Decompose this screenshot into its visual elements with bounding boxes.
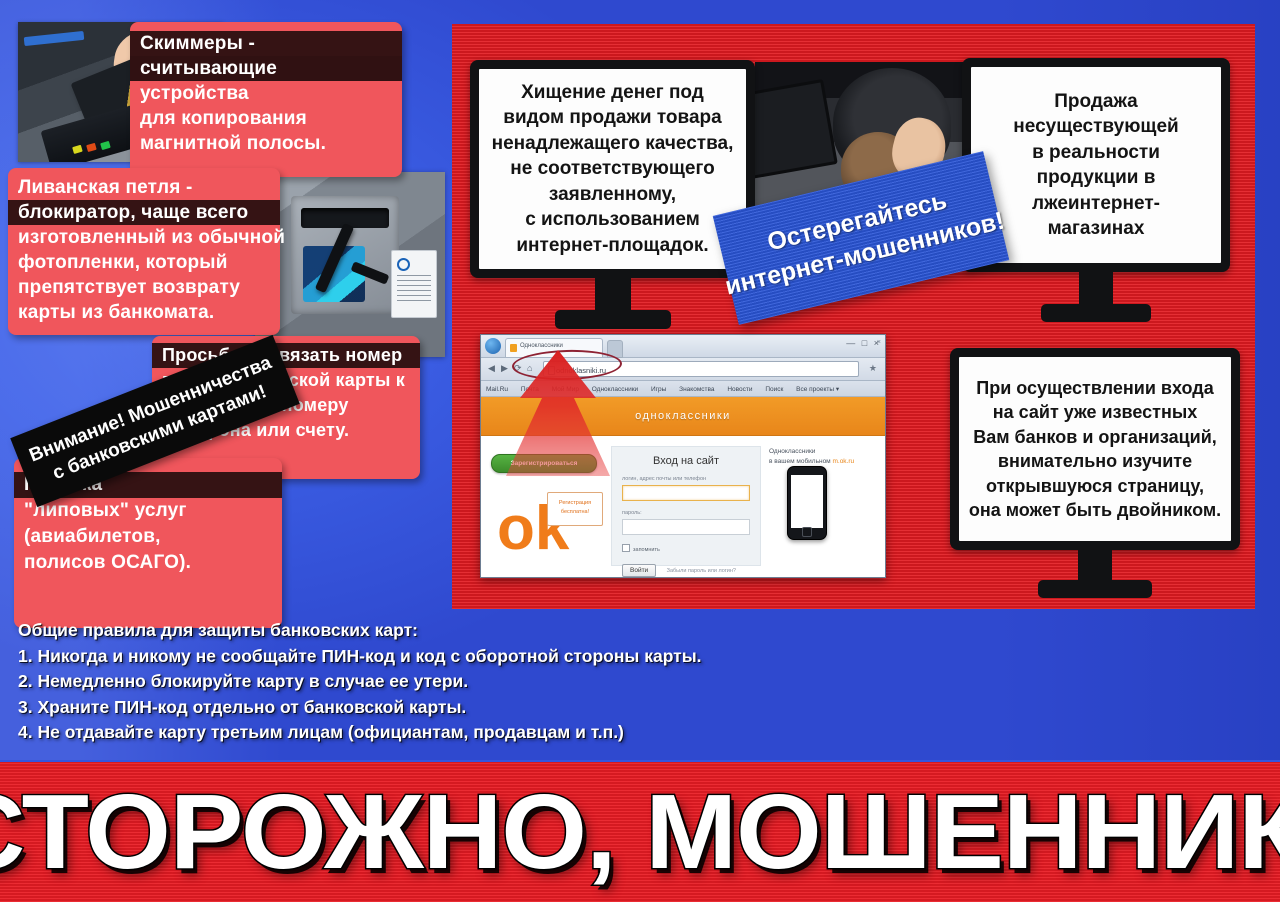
poster-canvas: Скиммеры - считывающие устройства для ко… — [0, 0, 1280, 902]
rules-title: Общие правила для защиты банковских карт… — [18, 618, 738, 644]
card-line: Скиммеры - — [130, 31, 402, 56]
monitor-line: внимательно изучите — [969, 449, 1221, 474]
bookmark-item[interactable]: Одноклассники — [592, 386, 638, 393]
card-line: карты из банкомата. — [8, 300, 280, 325]
register-button[interactable]: Зарегистрироваться — [491, 454, 597, 473]
bookmark-star-icon[interactable]: ★ — [869, 363, 877, 374]
forward-icon[interactable]: ▶ — [501, 363, 508, 374]
card-line: считывающие — [130, 56, 402, 81]
password-field-label: пароль: — [622, 510, 750, 516]
site-header: одноклассники — [481, 397, 885, 436]
site-body: Зарегистрироваться ok Регистрация беспла… — [481, 436, 885, 578]
monitor-line: Хищение денег под — [492, 80, 734, 106]
monitor-base — [1041, 304, 1151, 322]
monitor-line: заявленному, — [492, 182, 734, 208]
monitor-base — [1038, 580, 1152, 598]
monitor-base — [555, 310, 671, 329]
bookmark-item[interactable]: Игры — [651, 386, 666, 393]
card-line: (авиабилетов, — [14, 524, 282, 550]
monitor-line: видом продажи товара — [492, 105, 734, 131]
mobile-promo-line1: Одноклассники — [769, 448, 879, 455]
atm-card-slot-photo — [255, 172, 445, 357]
monitor-screen: Хищение денег под видом продажи товара н… — [479, 69, 746, 269]
mobile-promo-line2: в вашем мобильном — [769, 458, 832, 465]
login-submit-button[interactable]: Войти — [622, 564, 656, 577]
card-line: фотопленки, который — [8, 250, 280, 275]
bookmark-item[interactable]: Мой Мир — [552, 386, 579, 393]
bookmark-item[interactable]: Mail.Ru — [486, 386, 508, 393]
forgot-password-link[interactable]: Забыли пароль или логин? — [667, 568, 736, 574]
monitor-line: продукции в — [1013, 165, 1178, 191]
info-card-skimmers: Скиммеры - считывающие устройства для ко… — [130, 22, 402, 177]
monitor-neck — [1078, 550, 1112, 580]
monitor-line: не соответствующего — [492, 156, 734, 182]
monitor-line: она может быть двойником. — [969, 498, 1221, 523]
bookmark-item[interactable]: Все проекты ▾ — [796, 386, 839, 393]
free-registration-badge: Регистрация бесплатна! — [547, 492, 603, 526]
card-line: "липовых" услуг — [14, 498, 282, 524]
info-card-lebanese-loop: Ливанская петля - блокиратор, чаще всего… — [8, 168, 280, 335]
phone-mockup-icon — [787, 466, 827, 540]
browser-logo-icon — [485, 338, 501, 354]
monitor-frame: Хищение денег под видом продажи товара н… — [470, 60, 755, 278]
site-logo-text: одноклассники — [635, 410, 731, 422]
window-controls[interactable]: — □ × — [846, 338, 881, 348]
card-line: Ливанская петля - — [8, 175, 280, 200]
login-field-label: логин, адрес почты или телефон — [622, 476, 750, 482]
bookmark-item[interactable]: Знакомства — [679, 386, 714, 393]
card-line: блокиратор, чаще всего — [8, 200, 280, 225]
monitor-neck — [595, 278, 631, 310]
remember-me-checkbox[interactable]: запомнить — [622, 544, 750, 553]
monitor-line: Вам банков и организаций, — [969, 425, 1221, 450]
login-panel: Вход на сайт логин, адрес почты или теле… — [611, 446, 761, 566]
rules-item: 2. Немедленно блокируйте карту в случае … — [18, 669, 738, 695]
monitor-frame: При осуществлении входа на сайт уже изве… — [950, 348, 1240, 550]
headline-text: ОСТОРОЖНО, МОШЕННИКИ! — [0, 779, 1280, 885]
monitor-line: лжеинтернет- — [1013, 191, 1178, 217]
rules-item: 4. Не отдавайте карту третьим лицам (офи… — [18, 720, 738, 746]
monitor-goods-fraud: Хищение денег под видом продажи товара н… — [470, 60, 755, 335]
monitor-line: открывшуюся страницу, — [969, 474, 1221, 499]
card-line: полисов ОСАГО). — [14, 550, 282, 576]
bookmark-item[interactable]: Поиск — [765, 386, 783, 393]
monitor-line: с использованием — [492, 207, 734, 233]
monitor-line: ненадлежащего качества, — [492, 131, 734, 157]
checkbox-icon — [622, 544, 630, 552]
card-line: устройства — [130, 81, 402, 106]
monitor-line: несуществующей — [1013, 114, 1178, 140]
monitor-line: на сайт уже известных — [969, 400, 1221, 425]
monitor-screen: При осуществлении входа на сайт уже изве… — [959, 357, 1231, 541]
monitor-neck — [1079, 272, 1113, 304]
back-icon[interactable]: ◀ — [488, 363, 495, 374]
monitor-phishing-site: При осуществлении входа на сайт уже изве… — [950, 348, 1240, 610]
rules-item: 1. Никогда и никому не сообщайте ПИН-код… — [18, 644, 738, 670]
rules-item: 3. Храните ПИН-код отдельно от банковско… — [18, 695, 738, 721]
login-input[interactable] — [622, 485, 750, 501]
mobile-promo-link[interactable]: m.ok.ru — [832, 458, 854, 465]
bookmarks-bar: Mail.Ru Почта Мой Мир Одноклассники Игры… — [481, 381, 885, 397]
monitor-screen: Продажа несуществующей в реальности прод… — [971, 67, 1221, 263]
bookmark-item[interactable]: Новости — [727, 386, 752, 393]
remember-label: запомнить — [633, 547, 660, 553]
general-rules-block: Общие правила для защиты банковских карт… — [18, 618, 738, 746]
odnoklassniki-logo-icon: ok — [497, 502, 547, 560]
card-line: магнитной полосы. — [130, 131, 402, 156]
monitor-line: магазинах — [1013, 216, 1178, 242]
monitor-fake-shops: Продажа несуществующей в реальности прод… — [962, 58, 1230, 330]
site-left-column: Зарегистрироваться ok Регистрация беспла… — [481, 436, 609, 578]
monitor-line: интернет-площадок. — [492, 233, 734, 259]
card-line: Просьба привязать номер — [152, 343, 420, 368]
monitor-line: При осуществлении входа — [969, 376, 1221, 401]
bookmark-item[interactable]: Почта — [521, 386, 539, 393]
card-line: изготовленный из обычной — [8, 225, 280, 250]
headline-band: ОСТОРОЖНО, МОШЕННИКИ! — [0, 762, 1280, 902]
card-line: препятствует возврату — [8, 275, 280, 300]
login-panel-title: Вход на сайт — [622, 455, 750, 467]
monitor-line: Продажа — [1013, 89, 1178, 115]
mobile-promo: Одноклассники в вашем мобильном m.ok.ru — [765, 436, 885, 578]
monitor-line: в реальности — [1013, 140, 1178, 166]
card-line: для копирования — [130, 106, 402, 131]
password-input[interactable] — [622, 519, 750, 535]
